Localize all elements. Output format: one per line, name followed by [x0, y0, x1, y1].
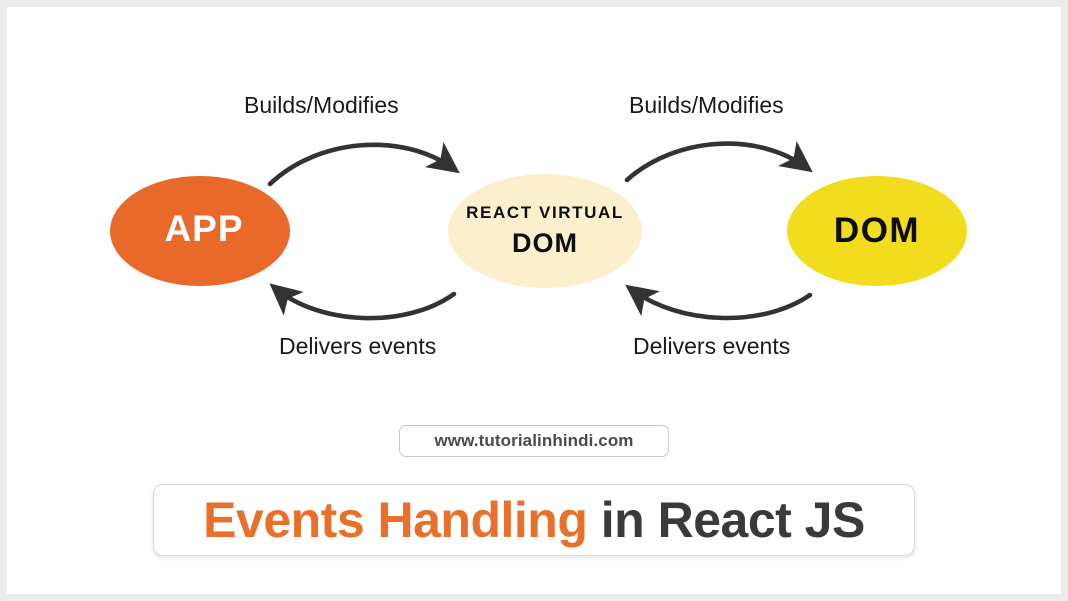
node-dom-label: DOM — [787, 213, 967, 250]
edge-label-vdom-to-app: Delivers events — [279, 333, 436, 360]
page-title-card: Events Handling in React JS — [153, 484, 915, 556]
edge-vdom-to-dom — [627, 144, 807, 180]
website-url-text: www.tutorialinhindi.com — [434, 431, 633, 451]
node-react-virtual-dom-line1: REACT VIRTUAL — [435, 204, 655, 222]
page-title-rest: in React JS — [587, 492, 864, 548]
node-app-label: APP — [114, 210, 294, 249]
edge-label-dom-to-vdom: Delivers events — [633, 333, 790, 360]
page-title: Events Handling in React JS — [203, 491, 865, 549]
page-title-accent: Events Handling — [203, 492, 587, 548]
edge-dom-to-vdom — [631, 289, 810, 318]
screenshot-root: APP REACT VIRTUAL DOM DOM Builds/Modifie… — [0, 0, 1068, 601]
diagram-canvas: APP REACT VIRTUAL DOM DOM Builds/Modifie… — [7, 7, 1061, 594]
edge-label-vdom-to-dom: Builds/Modifies — [629, 92, 784, 119]
edge-label-app-to-vdom: Builds/Modifies — [244, 92, 399, 119]
edge-app-to-vdom — [270, 145, 454, 184]
node-react-virtual-dom-label: REACT VIRTUAL DOM — [435, 204, 655, 257]
edge-vdom-to-app — [275, 288, 454, 318]
node-react-virtual-dom-line2: DOM — [435, 229, 655, 257]
website-url-badge: www.tutorialinhindi.com — [399, 425, 669, 457]
